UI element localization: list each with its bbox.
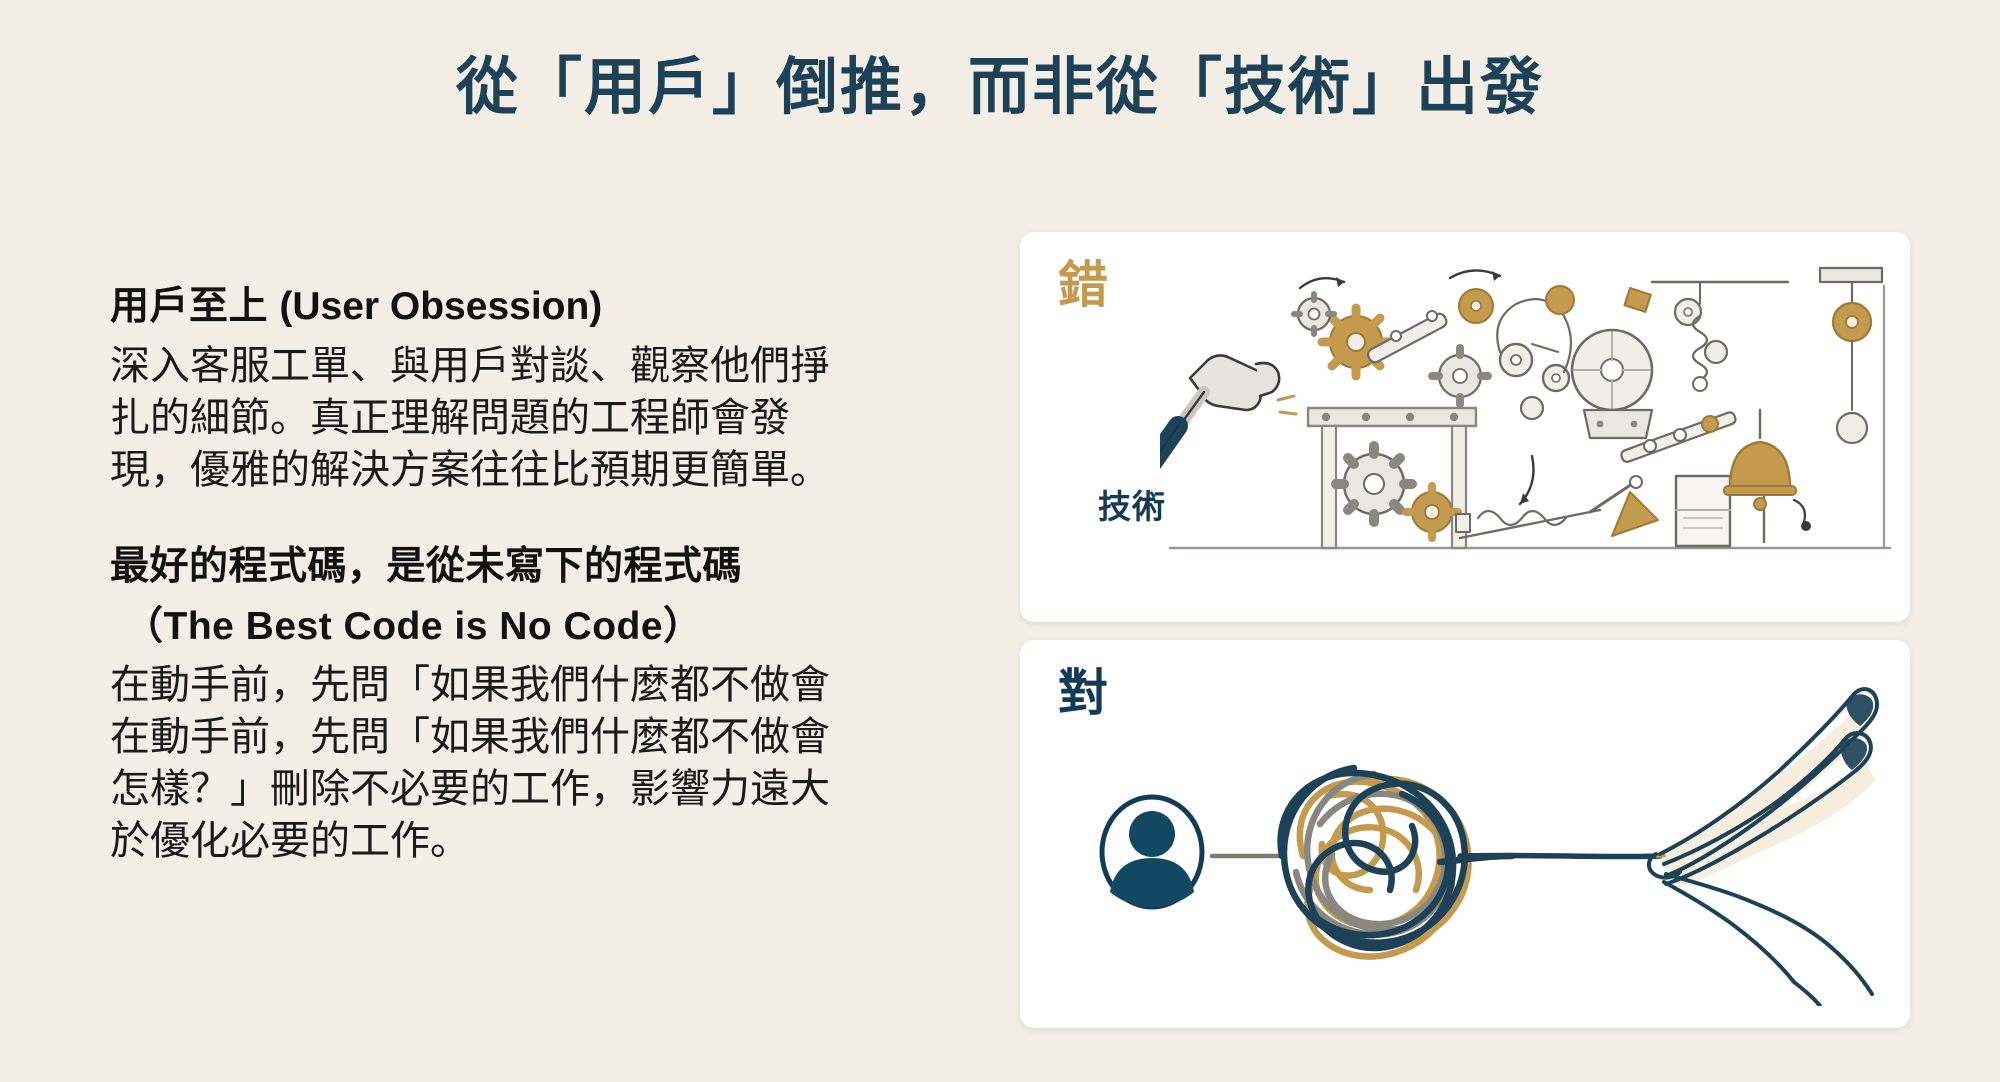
page-title: 從「用戶」倒推，而非從「技術」出發 [0,52,2000,123]
content-block-user-obsession: 用戶至上 (User Obsession) 深入客服工單、與用戶對談、觀察他們掙… [110,280,950,496]
body-line: 在動手前，先問「如果我們什麼都不做會 [110,659,950,711]
content-block-no-code: 最好的程式碼，是從未寫下的程式碼 （The Best Code is No Co… [110,540,950,868]
card-right-example: 對 [1020,640,1910,1028]
card-wrong-example: 錯 技術 [1020,232,1910,622]
block-body: 在動手前，先問「如果我們什麼都不做會 在動手前，先問「如果我們什麼都不做會 怎樣… [110,659,950,867]
text-column: 用戶至上 (User Obsession) 深入客服工單、與用戶對談、觀察他們掙… [110,280,950,867]
label-technology: 技術 [1098,480,1166,528]
body-line: 怎樣？」刪除不必要的工作，影響力遠大 [110,763,950,815]
body-line: 在動手前，先問「如果我們什麼都不做會 [110,711,950,763]
rube-goldberg-machine-illustration [1160,260,1900,600]
block-heading-en: (User Obsession) [279,285,602,328]
body-line: 扎的細節。真正理解問題的工程師會發 [110,392,950,444]
body-line: 於優化必要的工作。 [110,815,950,867]
badge-wrong: 錯 [1058,260,1109,310]
body-line: 現，優雅的解決方案往往比預期更簡單。 [110,444,950,496]
block-heading-cn: 用戶至上 [110,285,268,328]
block-heading: 用戶至上 (User Obsession) [110,280,950,334]
body-line: 深入客服工單、與用戶對談、觀察他們掙 [110,340,950,392]
block-body: 深入客服工單、與用戶對談、觀察他們掙 扎的細節。真正理解問題的工程師會發 現，優… [110,340,950,496]
tangled-thread-illustration [1060,676,1880,1006]
slide-root: 從「用戶」倒推，而非從「技術」出發 用戶至上 (User Obsession) … [0,0,2000,1082]
block-heading-en: （The Best Code is No Code） [110,600,950,654]
user-avatar-icon [1102,797,1202,907]
block-heading-cn: 最好的程式碼，是從未寫下的程式碼 [110,540,950,594]
